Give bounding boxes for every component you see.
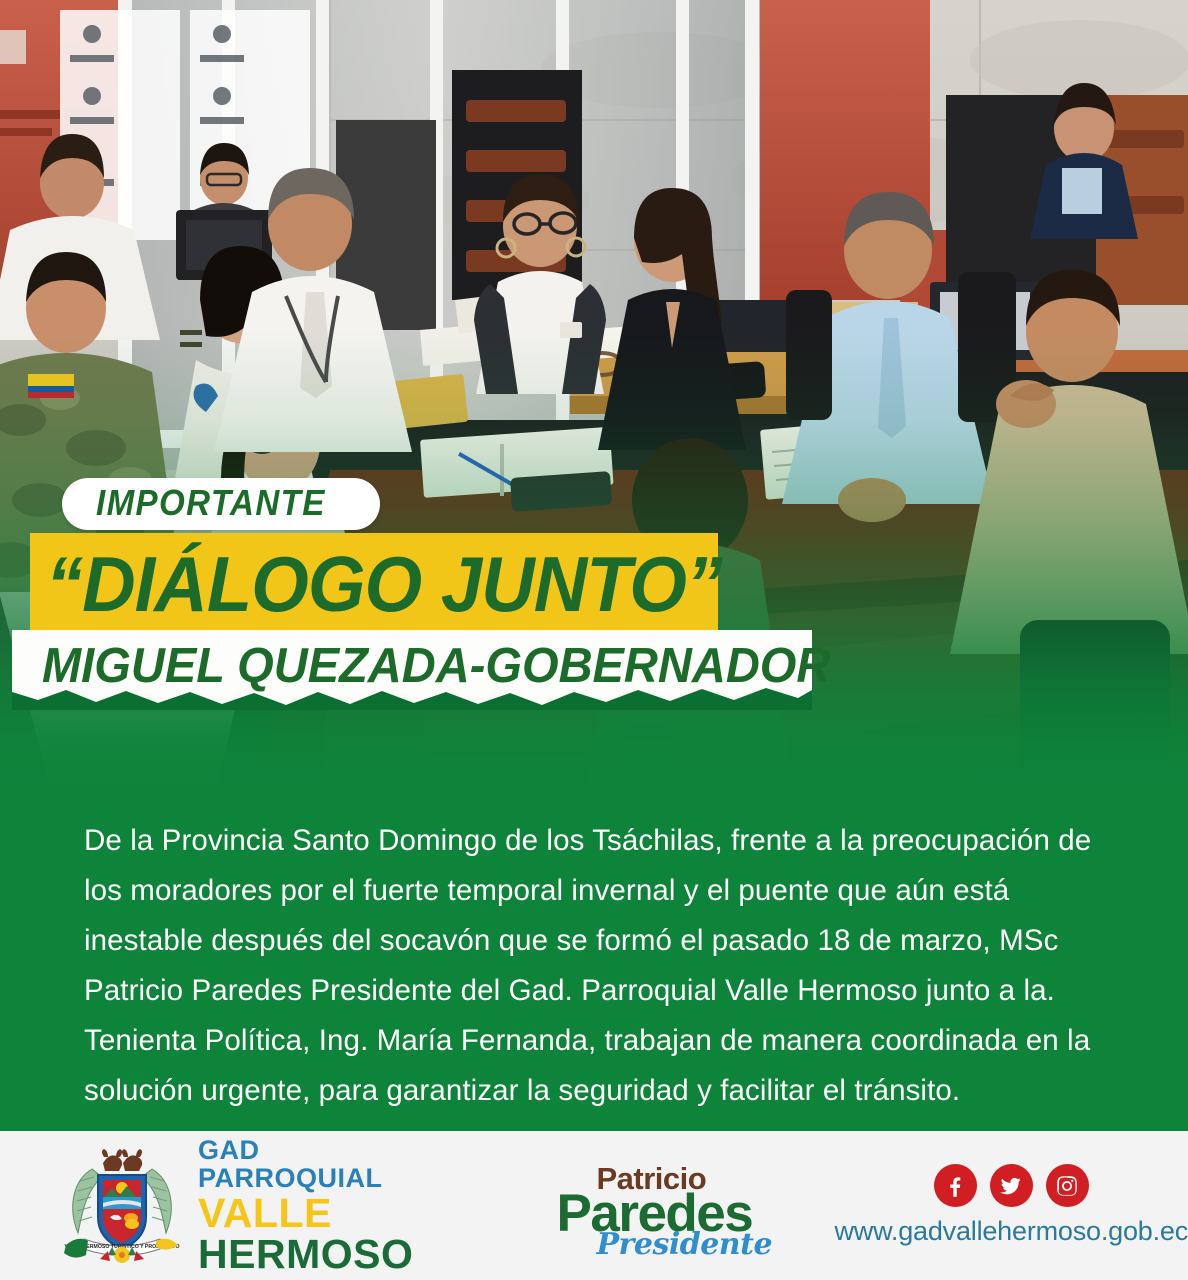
footer: VALLE HERMOSO TURÍSTICO Y PRODUCTIVO GAD… bbox=[0, 1131, 1188, 1280]
instagram-icon[interactable] bbox=[1046, 1164, 1089, 1207]
president-role: Presidente bbox=[597, 1227, 773, 1262]
poster: IMPORTANTE “DIÁLOGO JUNTO” MIGUEL QUEZAD… bbox=[0, 0, 1188, 1280]
gad-line2: PARROQUIAL bbox=[198, 1165, 453, 1192]
coat-of-arms-icon: VALLE HERMOSO TURÍSTICO Y PRODUCTIVO bbox=[58, 1147, 186, 1265]
president-logo[interactable]: Patricio Paredes Presidente bbox=[553, 1151, 753, 1261]
body-paragraph: De la Provincia Santo Domingo de los Tsá… bbox=[84, 816, 1104, 1116]
website-link[interactable]: www.gadvallehermoso.gob.ec bbox=[835, 1216, 1188, 1247]
gad-valle: VALLE bbox=[198, 1190, 332, 1236]
gad-line1: GAD bbox=[198, 1137, 453, 1164]
social-icons bbox=[934, 1164, 1089, 1207]
headline-subtitle: MIGUEL QUEZADA-GOBERNADOR bbox=[42, 636, 830, 696]
gad-logo[interactable]: VALLE HERMOSO TURÍSTICO Y PRODUCTIVO GAD… bbox=[58, 1137, 453, 1275]
importante-label: IMPORTANTE bbox=[96, 485, 326, 521]
twitter-icon[interactable] bbox=[990, 1164, 1033, 1207]
gad-hermoso: HERMOSO bbox=[198, 1231, 413, 1277]
title-banner: “DIÁLOGO JUNTO” bbox=[30, 533, 718, 633]
facebook-icon[interactable] bbox=[934, 1164, 977, 1207]
social-block: www.gadvallehermoso.gob.ec bbox=[835, 1164, 1188, 1247]
subtitle-torn-paper: MIGUEL QUEZADA-GOBERNADOR bbox=[12, 630, 812, 710]
headline-title: “DIÁLOGO JUNTO” bbox=[46, 541, 722, 627]
importante-badge: IMPORTANTE bbox=[62, 478, 380, 530]
